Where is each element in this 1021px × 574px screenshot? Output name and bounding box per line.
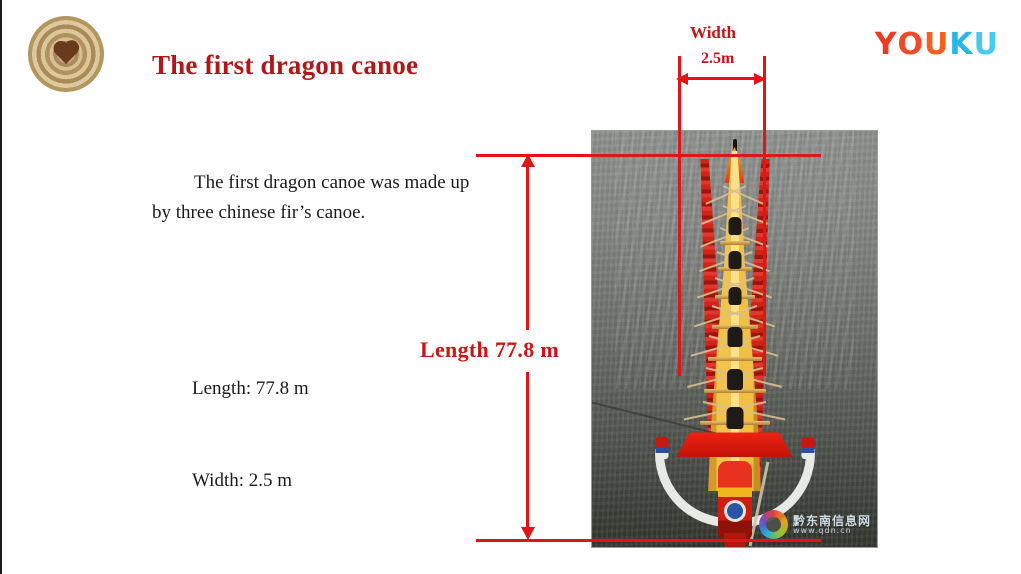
- watermark-url: www.qdn.cn: [793, 527, 871, 535]
- width-extension-line-left: [678, 56, 681, 376]
- presentation-slide: YOUKU The first dragon canoe The first d…: [0, 0, 1021, 574]
- length-annotation-label: Length 77.8 m: [420, 337, 559, 363]
- width-arrow-line: [686, 77, 756, 80]
- spec-width: Width: 2.5 m: [192, 470, 292, 492]
- youku-logo: YOUKU: [875, 30, 999, 60]
- outrigger-tip-right: [801, 437, 814, 459]
- watermark-text-cn: 黔东南信息网: [793, 515, 871, 527]
- youku-letter-u1: U: [924, 30, 949, 60]
- length-arrow-line-upper: [526, 166, 529, 330]
- youku-letter-u2: U: [974, 30, 999, 60]
- outrigger-tip-left: [655, 437, 668, 459]
- heart-icon: [55, 43, 76, 64]
- youku-letter-y: Y: [875, 30, 898, 60]
- length-arrow-line-lower: [526, 372, 529, 528]
- width-annotation-value: 2.5m: [701, 50, 734, 68]
- dragon-head: [718, 461, 752, 539]
- body-paragraph: The first dragon canoe was made up by th…: [152, 168, 472, 228]
- dragon-boat-photo: 黔东南信息网 www.qdn.cn: [591, 130, 878, 548]
- width-arrowhead-right: [754, 73, 766, 85]
- width-arrowhead-left: [676, 73, 688, 85]
- length-arrowhead-top: [521, 154, 535, 167]
- photo-watermark: 黔东南信息网 www.qdn.cn: [759, 510, 871, 539]
- youku-letter-o: O: [897, 30, 924, 60]
- page-title: The first dragon canoe: [152, 50, 418, 81]
- length-arrowhead-bottom: [521, 527, 535, 540]
- watermark-orb-icon: [759, 510, 788, 539]
- spec-length: Length: 77.8 m: [192, 378, 309, 400]
- youku-letter-k: K: [949, 30, 973, 60]
- width-extension-line-right: [763, 56, 766, 376]
- width-annotation-label: Width: [690, 23, 736, 43]
- tree-ring-heart-logo: [28, 16, 104, 92]
